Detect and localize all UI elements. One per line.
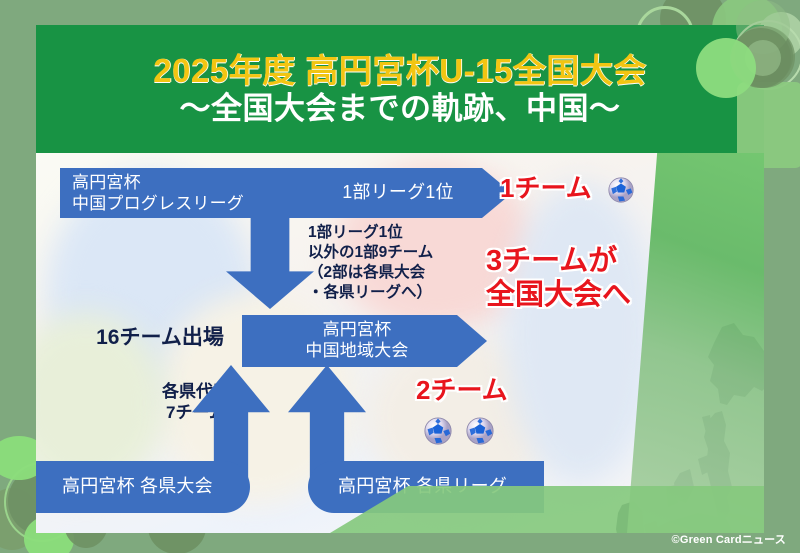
title-line-1: 2025年度 高円宮杯U-15全国大会 [153, 53, 647, 89]
flow-note-remaining-teams: 1部リーグ1位 以外の1部9チーム （2部は各県大会 ・各県リーグへ） [308, 223, 498, 304]
flow-label-prefecture-tournament: 高円宮杯 各県大会 [62, 476, 252, 498]
flow-label-regional-tournament: 高円宮杯 中国地域大会 [252, 320, 462, 361]
result-two-teams: 2チーム [416, 375, 508, 405]
decor-circle [696, 38, 756, 98]
copyright-credit: ©Green Cardニュース [672, 531, 786, 547]
soccer-ball-icon [608, 177, 634, 203]
title-line-2: ～全国大会までの軌跡、中国～ [180, 92, 621, 125]
infographic-canvas: 2025年度 高円宮杯U-15全国大会 ～全国大会までの軌跡、中国～ [0, 0, 800, 553]
soccer-ball-icon [466, 417, 494, 445]
flow-text-16-teams: 16チーム出場 [70, 325, 250, 351]
page-title: 2025年度 高円宮杯U-15全国大会 ～全国大会までの軌跡、中国～ [36, 25, 764, 153]
flow-label-progress-league: 高円宮杯 中国プログレスリーグ [72, 173, 302, 214]
soccer-ball-icon [424, 417, 452, 445]
flow-label-top-right: 1部リーグ1位 [308, 182, 488, 204]
result-three-teams: 3チームが 全国大会へ [486, 245, 631, 312]
header-banner: 2025年度 高円宮杯U-15全国大会 ～全国大会までの軌跡、中国～ [36, 25, 764, 153]
result-one-team: 1チーム [500, 173, 592, 203]
